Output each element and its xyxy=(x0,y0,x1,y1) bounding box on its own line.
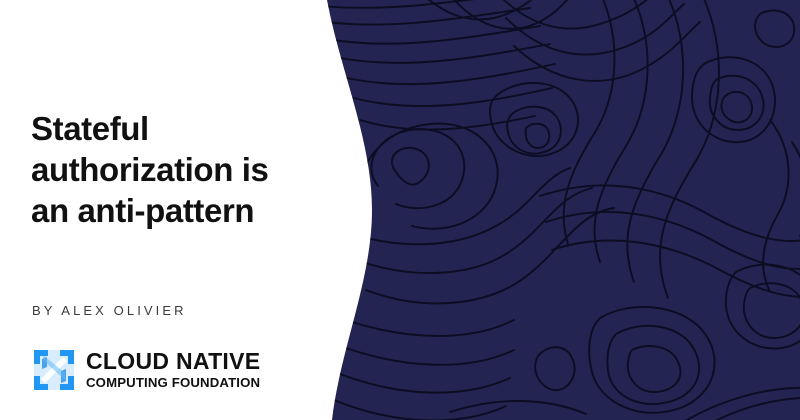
cncf-wordmark: CLOUD NATIVE COMPUTING FOUNDATION xyxy=(86,350,260,391)
byline: BY ALEX OLIVIER xyxy=(32,303,187,318)
topographic-contour-pattern xyxy=(300,0,800,420)
cncf-logo: CLOUD NATIVE COMPUTING FOUNDATION xyxy=(31,347,260,393)
headline-line-2: authorization is xyxy=(31,149,321,190)
cncf-mark-icon xyxy=(31,347,77,393)
text-column: Stateful authorization is an anti-patter… xyxy=(0,0,330,420)
headline: Stateful authorization is an anti-patter… xyxy=(31,108,321,231)
cncf-wordmark-line-1: CLOUD NATIVE xyxy=(86,350,260,373)
headline-line-1: Stateful xyxy=(31,108,321,149)
topographic-panel xyxy=(300,0,800,420)
cncf-wordmark-line-2: COMPUTING FOUNDATION xyxy=(86,375,260,391)
social-card: Stateful authorization is an anti-patter… xyxy=(0,0,800,420)
headline-line-3: an anti-pattern xyxy=(31,190,321,231)
